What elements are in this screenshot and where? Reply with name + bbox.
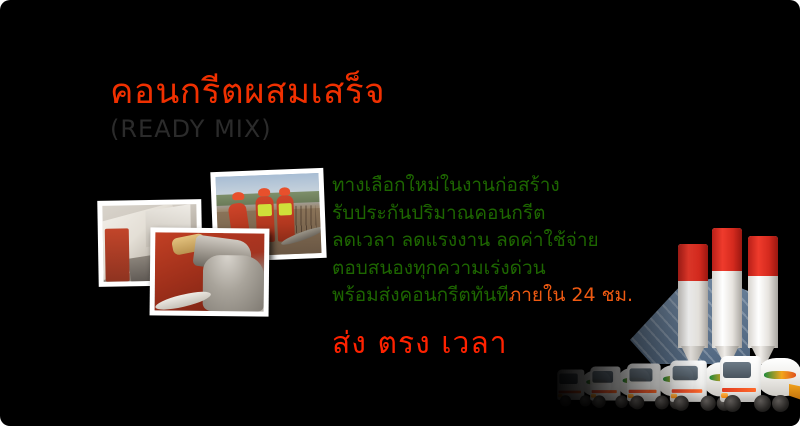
truck-cab-3 [627, 364, 660, 402]
truck-cab-4 [590, 367, 620, 401]
wheel-1b [754, 395, 771, 412]
windshield-2 [673, 366, 698, 381]
photo-collage [0, 0, 340, 330]
helmet-1 [233, 192, 245, 200]
silo-cap-1 [678, 244, 708, 281]
cement-silo-3 [748, 236, 778, 348]
fleet-bottom-fade [546, 410, 800, 426]
cement-silo-1 [678, 244, 708, 348]
cab-stripe-5 [558, 390, 580, 393]
truck-cab-2 [670, 361, 706, 402]
benefit-line-4: ตอบสนองทุกความเร่งด่วน [332, 255, 632, 283]
cab-stripe-1 [722, 388, 756, 392]
wheel-3b [655, 395, 669, 409]
helmet-3 [279, 187, 291, 195]
cement-silo-2 [712, 228, 742, 348]
silo-cap-2 [712, 228, 742, 271]
silo-cap-3 [748, 236, 778, 276]
windshield-1 [723, 362, 751, 379]
windshield-5 [559, 373, 577, 384]
mixer-truck-1 [720, 350, 798, 412]
delivery-time-highlight: ภายใน 24 ชม. [509, 284, 633, 306]
windshield-4 [593, 371, 613, 383]
helmet-2 [258, 188, 270, 196]
wheel-1c [772, 395, 789, 412]
slogan-text: ส่ง ตรง เวลา [332, 324, 632, 364]
truck-cab-1 [720, 356, 761, 402]
windshield-3 [630, 368, 653, 382]
concrete-flow [203, 255, 265, 312]
benefit-line-5: พร้อมส่งคอนกรีตทันทีภายใน 24 ชม. [332, 282, 632, 310]
ready-mix-promo-banner: คอนกรีตผสมเสร็จ (READY MIX) ทางเลือกใหม่… [0, 0, 800, 426]
benefit-line-5-text: พร้อมส่งคอนกรีตทันที [332, 284, 509, 306]
benefit-line-1-text: ทางเลือกใหม่ในงานก่อสร้าง [332, 174, 560, 196]
benefit-line-2: รับประกันปริมาณคอนกรีต [332, 200, 632, 228]
page-title-thai: คอนกรีตผสมเสร็จ [110, 72, 385, 112]
wheel-5a [560, 395, 571, 406]
benefit-line-4-text: ตอบสนองทุกความเร่งด่วน [332, 257, 546, 279]
cab-stripe-3 [628, 390, 656, 393]
photo-pouring-concrete [150, 227, 270, 316]
benefit-line-3-text: ลดเวลา ลดแรงงาน ลดค่าใช้จ่าย [332, 229, 599, 251]
benefits-copy-block: ทางเลือกใหม่ในงานก่อสร้าง รับประกันปริมา… [332, 172, 632, 364]
wheel-4b [615, 395, 628, 408]
benefit-line-2-text: รับประกันปริมาณคอนกรีต [332, 202, 545, 224]
photo-pouring-concrete-image [155, 232, 265, 311]
heading-block: คอนกรีตผสมเสร็จ (READY MIX) [110, 72, 385, 144]
discharge-chute-1 [789, 384, 800, 400]
benefit-line-3: ลดเวลา ลดแรงงาน ลดค่าใช้จ่าย [332, 227, 632, 255]
benefit-line-1: ทางเลือกใหม่ในงานก่อสร้าง [332, 172, 632, 200]
wheel-2a [674, 396, 689, 411]
wheel-2b [701, 396, 716, 411]
cab-stripe-2 [671, 389, 702, 393]
wheel-1a [724, 395, 741, 412]
wheel-3a [630, 395, 644, 409]
page-title-english: (READY MIX) [110, 114, 385, 144]
drum-stripe-1 [764, 371, 796, 379]
cab-stripe-4 [591, 390, 616, 393]
wheel-4a [593, 395, 606, 408]
